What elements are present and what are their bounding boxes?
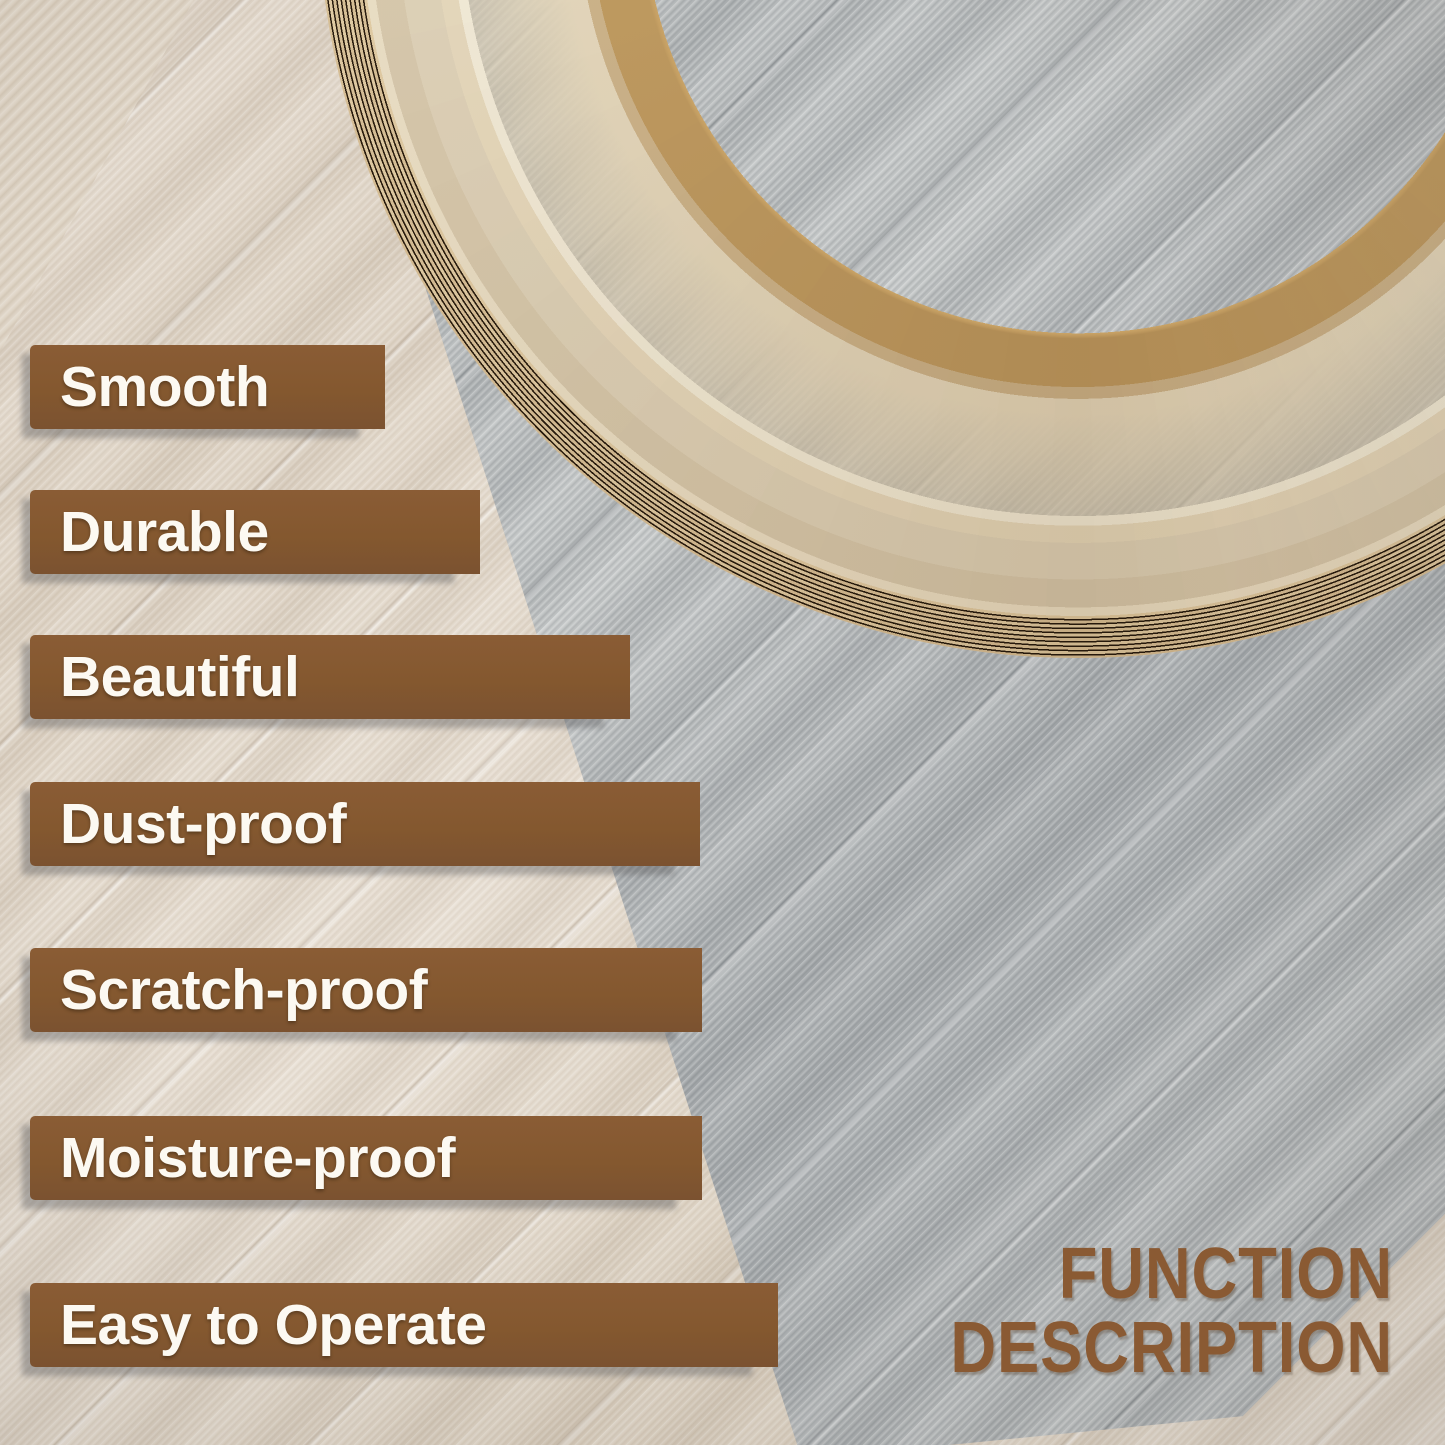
feature-banner-smooth[interactable]: Smooth: [30, 345, 385, 429]
feature-banner-dust-proof[interactable]: Dust-proof: [30, 782, 700, 866]
heading-line-2: DESCRIPTION: [950, 1311, 1393, 1385]
feature-banner-label: Durable: [60, 504, 269, 561]
feature-banner-scratch-proof[interactable]: Scratch-proof: [30, 948, 702, 1032]
feature-banner-label: Dust-proof: [60, 796, 346, 853]
product-feature-image: SmoothDurableBeautifulDust-proofScratch-…: [0, 0, 1445, 1445]
feature-banner-moisture-proof[interactable]: Moisture-proof: [30, 1116, 702, 1200]
feature-banner-durable[interactable]: Durable: [30, 490, 480, 574]
function-description-heading: FUNCTION DESCRIPTION: [950, 1237, 1393, 1385]
feature-banner-beautiful[interactable]: Beautiful: [30, 635, 630, 719]
feature-banner-label: Easy to Operate: [60, 1297, 487, 1354]
feature-banner-label: Smooth: [60, 359, 269, 416]
feature-banner-label: Moisture-proof: [60, 1130, 455, 1187]
feature-banner-easy-to-operate[interactable]: Easy to Operate: [30, 1283, 778, 1367]
heading-line-1: FUNCTION: [950, 1237, 1393, 1311]
feature-banner-label: Scratch-proof: [60, 962, 427, 1019]
feature-banner-label: Beautiful: [60, 649, 299, 706]
